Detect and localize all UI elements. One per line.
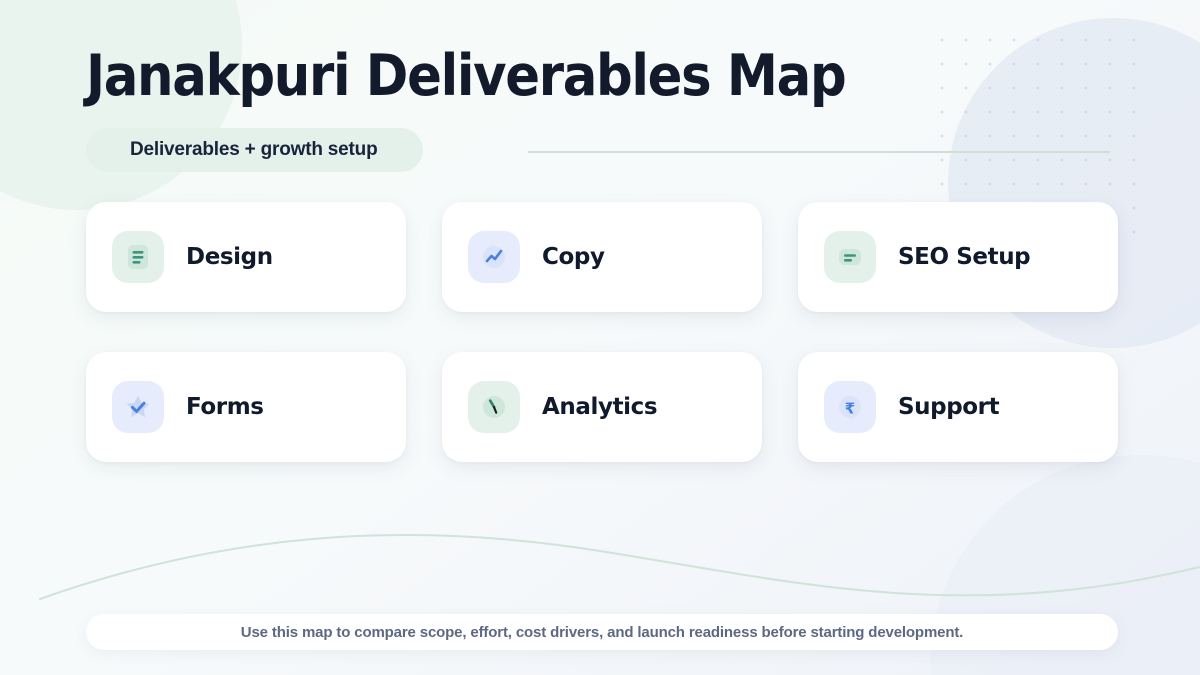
subtitle-text: Deliverables + growth setup <box>130 139 377 161</box>
card-analytics[interactable]: Analytics <box>442 352 762 462</box>
svg-text:₹: ₹ <box>845 399 855 417</box>
trending-up-icon <box>468 231 520 283</box>
card-label: Design <box>186 244 273 270</box>
page-title: Janakpuri Deliverables Map <box>86 46 845 108</box>
card-label: Support <box>898 394 999 420</box>
card-copy[interactable]: Copy <box>442 202 762 312</box>
card-label: Analytics <box>542 394 657 420</box>
rupee-icon: ₹ <box>824 381 876 433</box>
card-label: Copy <box>542 244 605 270</box>
card-label: Forms <box>186 394 264 420</box>
subtitle-pill: Deliverables + growth setup <box>86 128 423 172</box>
footer-note-pill: Use this map to compare scope, effort, c… <box>86 614 1118 650</box>
deliverables-grid: Design Copy SEO Setup <box>86 202 1118 462</box>
footer-note-text: Use this map to compare scope, effort, c… <box>241 624 963 641</box>
clock-icon <box>468 381 520 433</box>
card-forms[interactable]: Forms <box>86 352 406 462</box>
document-lines-icon <box>112 231 164 283</box>
card-seo-setup[interactable]: SEO Setup <box>798 202 1118 312</box>
header-divider-rule <box>528 151 1110 153</box>
star-check-icon <box>112 381 164 433</box>
poster-canvas: Janakpuri Deliverables Map Deliverables … <box>0 0 1200 675</box>
card-support[interactable]: ₹ Support <box>798 352 1118 462</box>
tag-lines-icon <box>824 231 876 283</box>
card-label: SEO Setup <box>898 244 1030 270</box>
card-design[interactable]: Design <box>86 202 406 312</box>
